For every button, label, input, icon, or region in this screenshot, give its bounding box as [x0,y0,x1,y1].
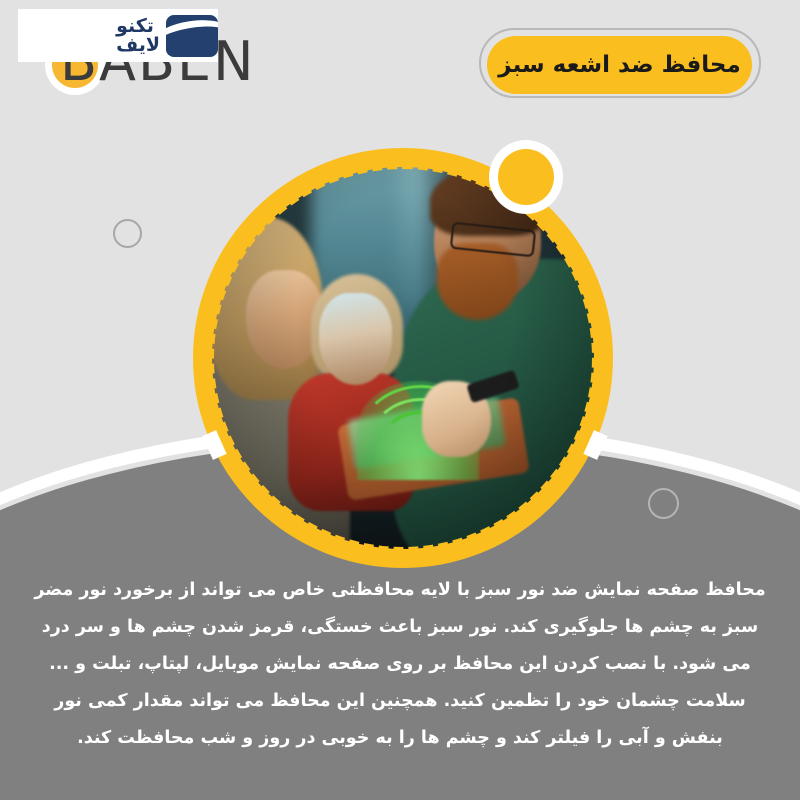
decorative-circle-left-icon [113,219,142,248]
badge-label: محافظ ضد اشعه سبز [498,52,740,78]
description-block: محافظ صفحه نمایش ضد نور سبز با لایه محاف… [30,572,770,757]
technolife-watermark-text: تکنو لایف [116,17,160,55]
accent-dot-icon [498,149,554,205]
product-badge[interactable]: محافظ ضد اشعه سبز [487,36,752,94]
technolife-logo-icon [166,15,218,57]
decorative-circle-right-icon [648,488,679,519]
description-paragraph: محافظ صفحه نمایش ضد نور سبز با لایه محاف… [30,572,770,757]
hero-dashed-ring [209,164,597,552]
watermark-line-2: لایف [116,36,160,55]
brand-logo: BABEN تکنو لایف [8,4,308,114]
promo-banner: BABEN تکنو لایف محافظ ضد اشعه سبز [0,0,800,800]
watermark-line-1: تکنو [116,17,154,36]
technolife-watermark: تکنو لایف [18,9,218,62]
